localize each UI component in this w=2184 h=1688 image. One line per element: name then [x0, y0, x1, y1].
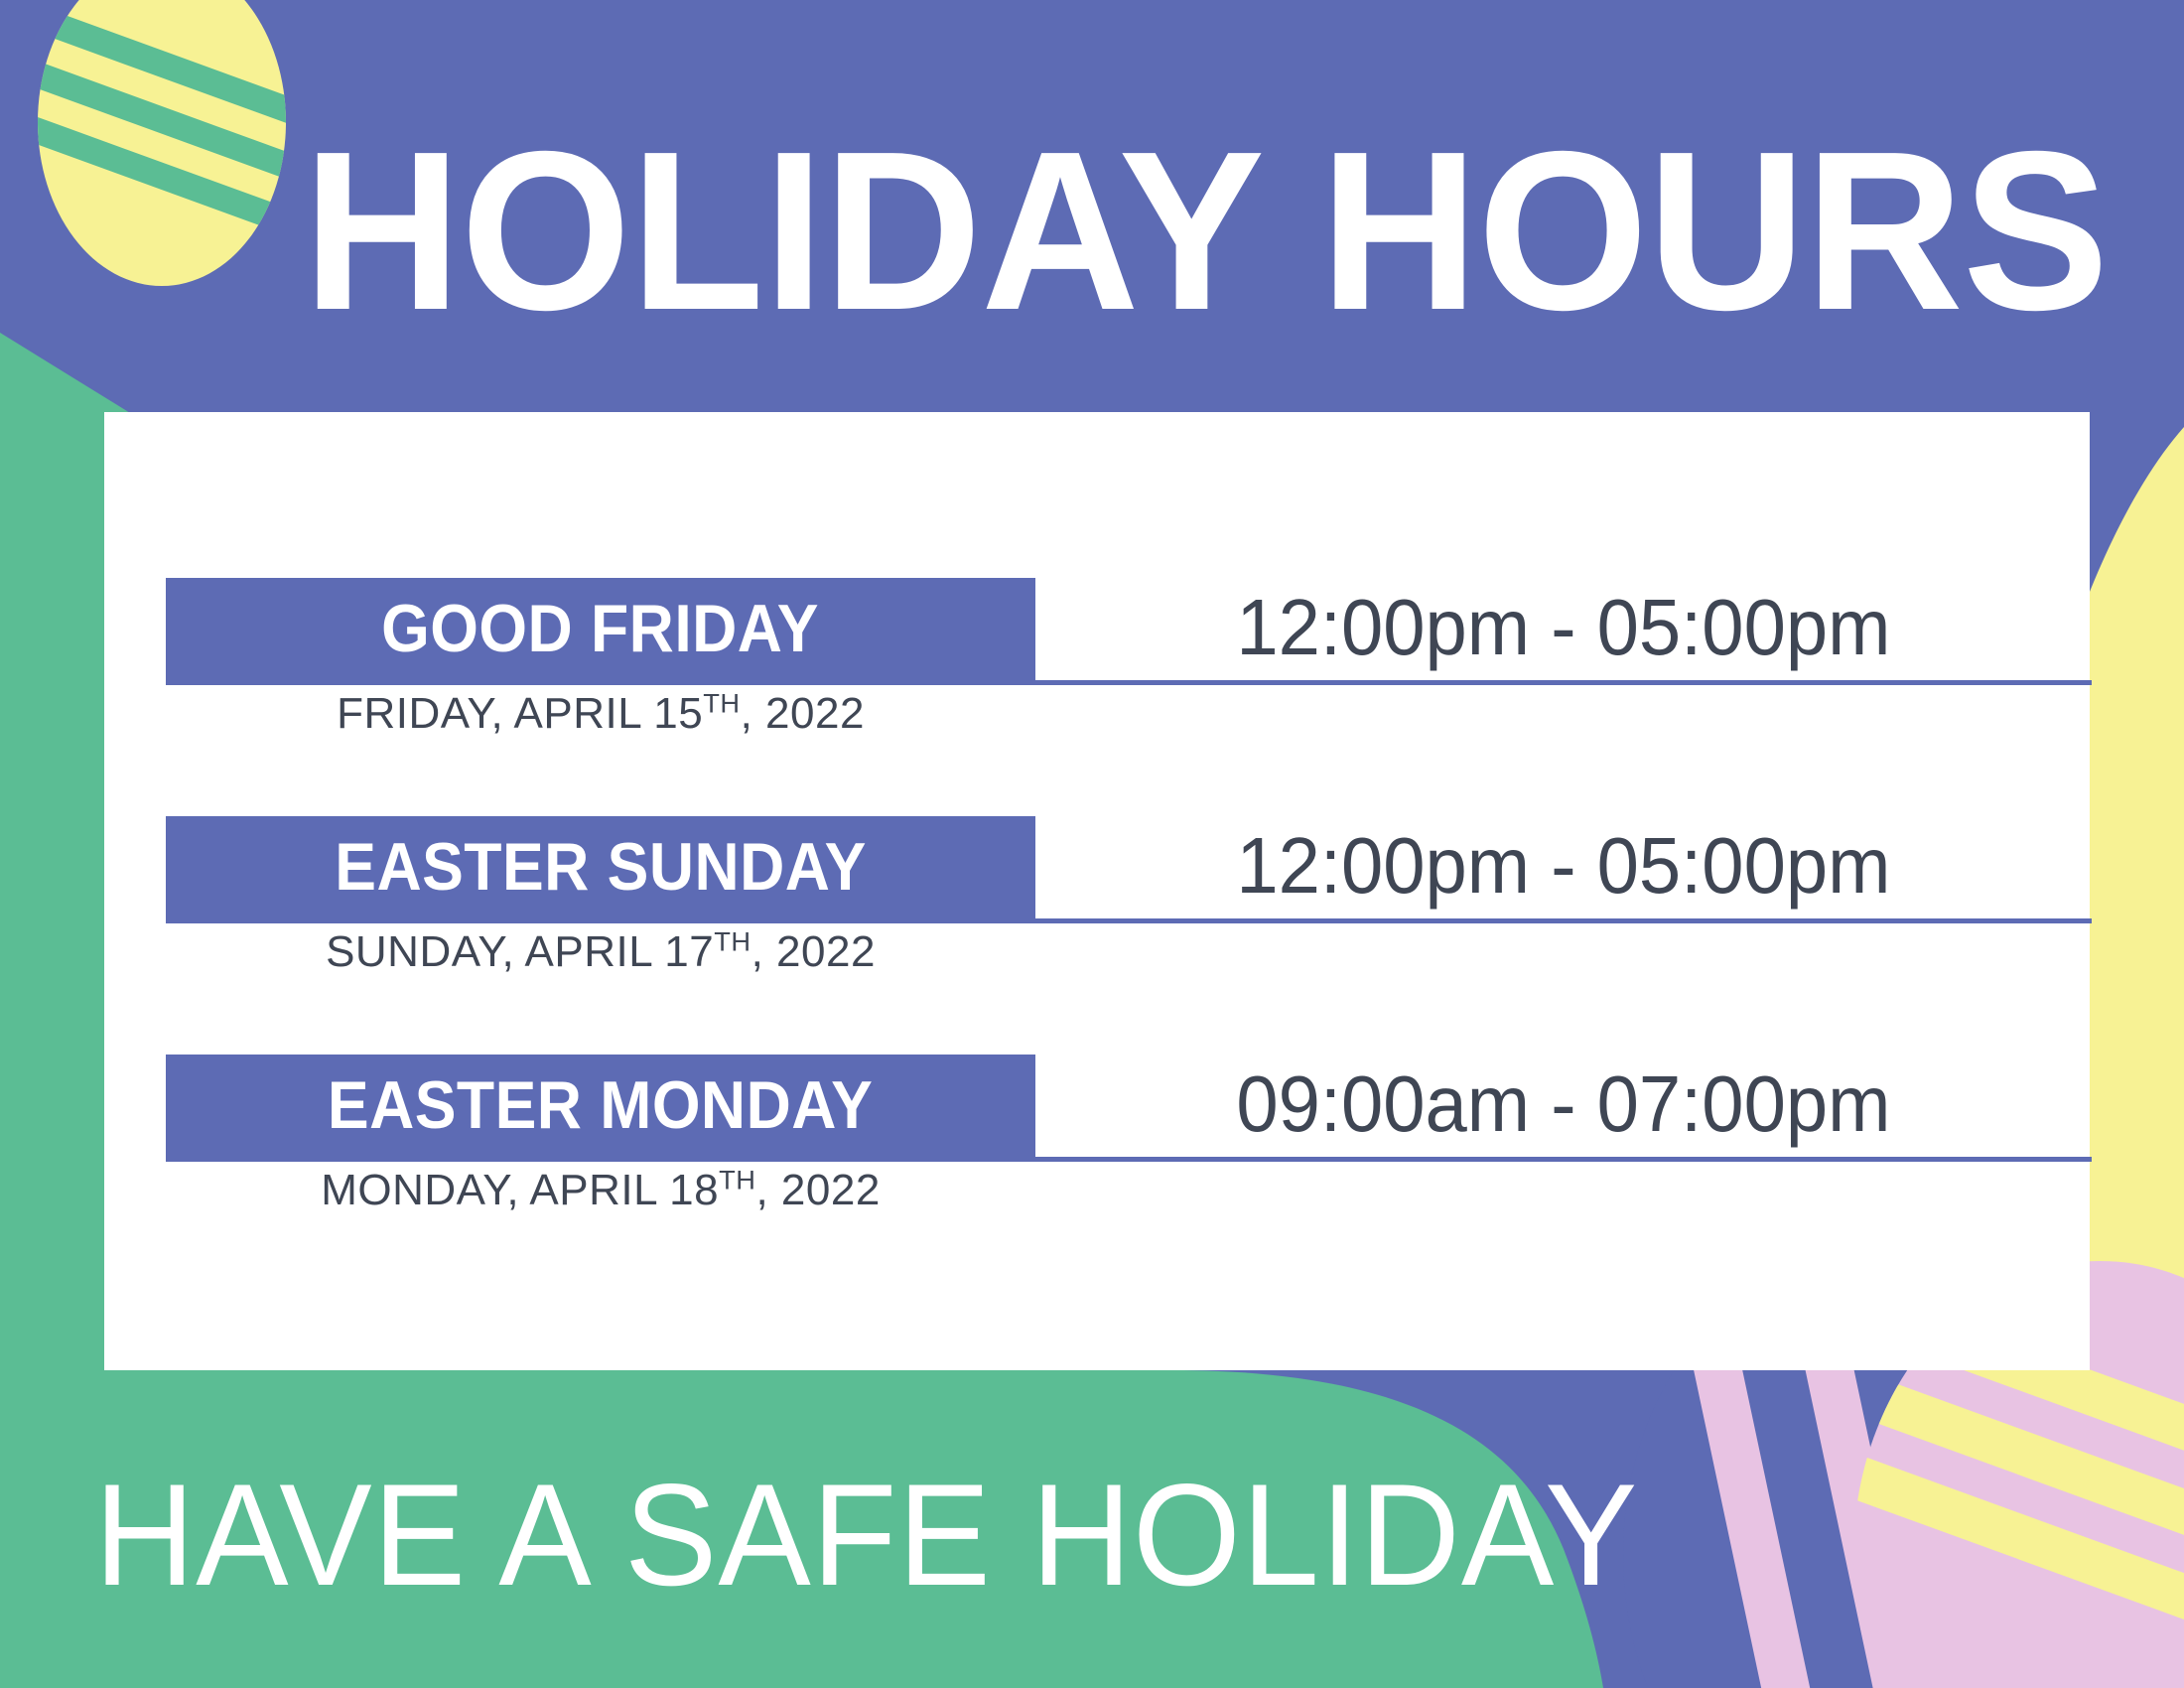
- date-year: , 2022: [755, 1166, 880, 1214]
- footer-message: HAVE A SAFE HOLIDAY: [94, 1452, 1638, 1618]
- schedule-row: EASTER MONDAY 09:00am - 07:00pm MONDAY, …: [166, 1055, 2092, 1293]
- holiday-name-bar: GOOD FRIDAY: [166, 578, 1035, 685]
- holiday-name: GOOD FRIDAY: [382, 590, 820, 667]
- schedule-list: GOOD FRIDAY 12:00pm - 05:00pm FRIDAY, AP…: [166, 578, 2092, 1293]
- holiday-name-bar: EASTER MONDAY: [166, 1055, 1035, 1162]
- hours-value: 12:00pm - 05:00pm: [1236, 820, 1890, 912]
- holiday-name: EASTER SUNDAY: [335, 828, 867, 906]
- holiday-date: FRIDAY, APRIL 15TH, 2022: [166, 689, 1035, 739]
- holiday-date: SUNDAY, APRIL 17TH, 2022: [166, 927, 1035, 977]
- schedule-row: GOOD FRIDAY 12:00pm - 05:00pm FRIDAY, AP…: [166, 578, 2092, 816]
- holiday-name-bar: EASTER SUNDAY: [166, 816, 1035, 923]
- hours-value: 09:00am - 07:00pm: [1236, 1058, 1890, 1150]
- date-prefix: FRIDAY, APRIL 15: [337, 689, 703, 738]
- holiday-name: EASTER MONDAY: [328, 1066, 873, 1144]
- hours-cell: 09:00am - 07:00pm: [1035, 1055, 2092, 1162]
- holiday-hours-poster: HOLIDAY HOURS GOOD FRIDAY 12:00pm - 05:0…: [0, 0, 2184, 1688]
- holiday-date: MONDAY, APRIL 18TH, 2022: [166, 1166, 1035, 1215]
- date-ordinal-suffix: TH: [719, 1164, 755, 1195]
- hours-value: 12:00pm - 05:00pm: [1236, 582, 1890, 673]
- date-prefix: SUNDAY, APRIL 17: [326, 927, 714, 976]
- page-title: HOLIDAY HOURS: [303, 117, 1940, 346]
- date-prefix: MONDAY, APRIL 18: [321, 1166, 719, 1214]
- date-ordinal-suffix: TH: [714, 925, 751, 956]
- hours-cell: 12:00pm - 05:00pm: [1035, 816, 2092, 923]
- schedule-row: EASTER SUNDAY 12:00pm - 05:00pm SUNDAY, …: [166, 816, 2092, 1055]
- hours-cell: 12:00pm - 05:00pm: [1035, 578, 2092, 685]
- date-ordinal-suffix: TH: [703, 687, 740, 718]
- date-year: , 2022: [741, 689, 865, 738]
- date-year: , 2022: [751, 927, 876, 976]
